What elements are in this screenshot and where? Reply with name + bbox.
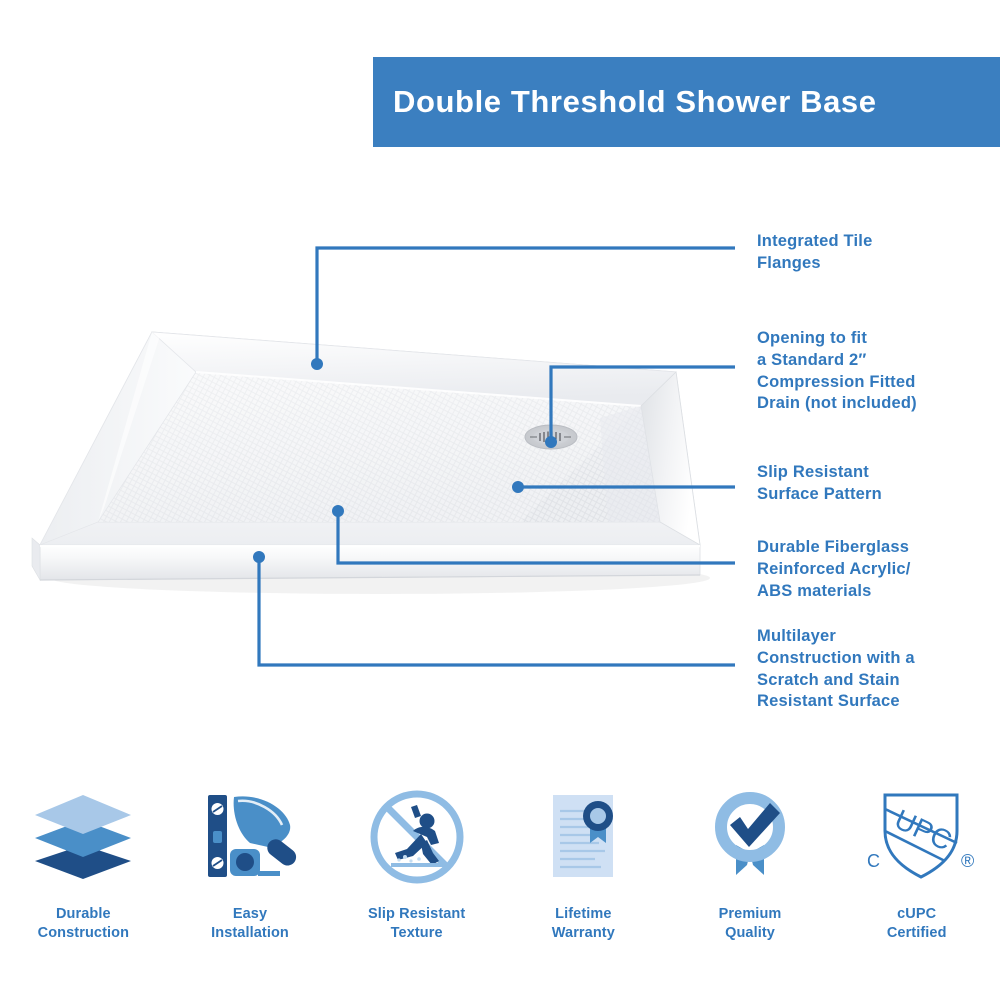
feature-durable-construction: Durable Construction (0, 778, 167, 963)
upc-shield-icon: UPC C ® (857, 778, 977, 896)
front-threshold-face (40, 545, 700, 580)
feature-slip-resistant-texture: Slip Resistant Texture (333, 778, 500, 963)
left-side-face (32, 538, 40, 580)
drain-opening-illustration (525, 425, 577, 449)
certificate-icon (527, 778, 639, 896)
check-rosette-icon (694, 778, 806, 896)
feature-label-cupc-certified: cUPC Certified (887, 905, 947, 943)
callout-label-multilayer-construction: Multilayer Construction with a Scratch a… (757, 626, 915, 713)
callout-label-slip-resistant-surface: Slip Resistant Surface Pattern (757, 462, 882, 506)
feature-badge-row: Durable Construction (0, 778, 1000, 963)
drain-inner (533, 430, 569, 445)
feature-label-easy-installation: Easy Installation (211, 905, 289, 943)
upc-shield-text: UPC (890, 803, 957, 856)
no-slip-icon (361, 778, 473, 896)
feature-easy-installation: Easy Installation (167, 778, 334, 963)
infographic-page: Double Threshold Shower Base (0, 0, 1000, 1000)
feature-lifetime-warranty: Lifetime Warranty (500, 778, 667, 963)
feature-label-slip-resistant-texture: Slip Resistant Texture (368, 905, 465, 943)
feature-label-durable-construction: Durable Construction (38, 905, 129, 943)
callout-label-durable-materials: Durable Fiberglass Reinforced Acrylic/ A… (757, 537, 911, 602)
feature-label-premium-quality: Premium Quality (719, 905, 782, 943)
callout-label-drain-opening: Opening to fit a Standard 2″ Compression… (757, 328, 917, 415)
layers-icon (27, 778, 139, 896)
upc-right-mark: ® (961, 851, 974, 871)
upc-left-mark: C (867, 851, 880, 871)
feature-premium-quality: Premium Quality (667, 778, 834, 963)
feature-label-lifetime-warranty: Lifetime Warranty (552, 905, 615, 943)
callout-label-integrated-tile-flanges: Integrated Tile Flanges (757, 231, 872, 275)
level-trowel-icon (194, 778, 306, 896)
feature-cupc-certified: UPC C ® cUPC Certified (833, 778, 1000, 963)
